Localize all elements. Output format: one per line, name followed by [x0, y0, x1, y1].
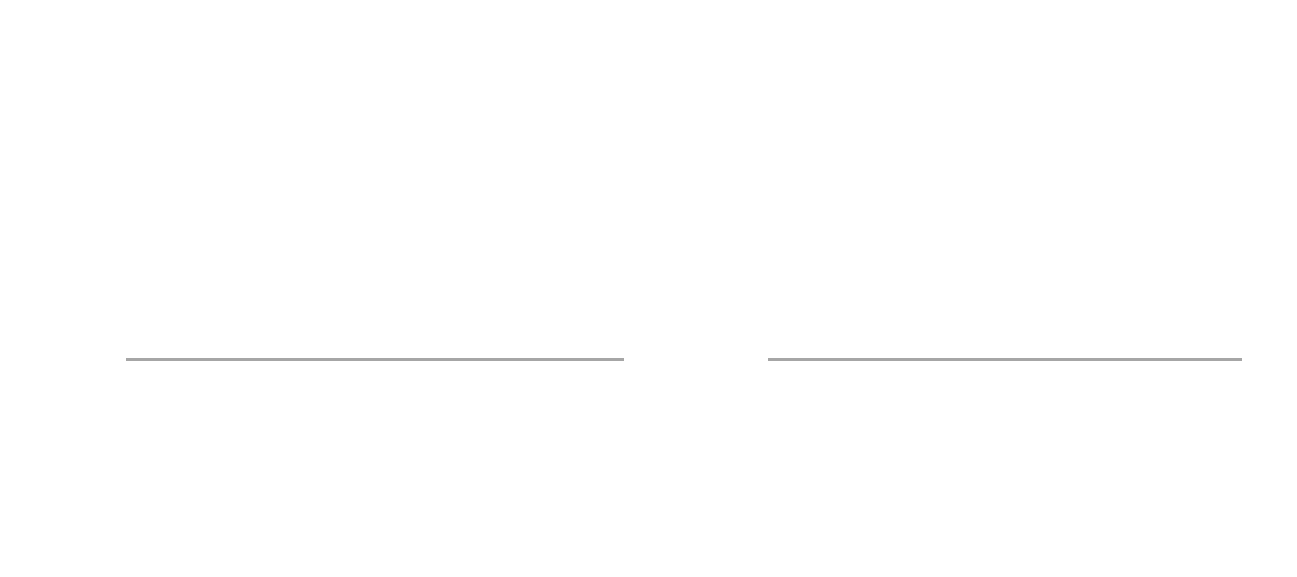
plot-gender [126, 36, 624, 388]
chart-gender [0, 0, 650, 577]
x-axis-labels-gender [126, 368, 624, 426]
y-axis-labels-gender [24, 36, 116, 358]
bars-gender [126, 36, 624, 358]
x-axis-labels-region [768, 368, 1242, 426]
x-axis-line-gender [126, 358, 624, 361]
bars-region [768, 36, 1242, 358]
chart-page [0, 0, 1297, 577]
plot-area-region [672, 36, 1242, 388]
plot-region [768, 36, 1242, 388]
y-axis-labels-region [672, 36, 764, 358]
chart-region [650, 0, 1297, 577]
x-axis-line-region [768, 358, 1242, 361]
plot-area-gender [24, 36, 624, 388]
